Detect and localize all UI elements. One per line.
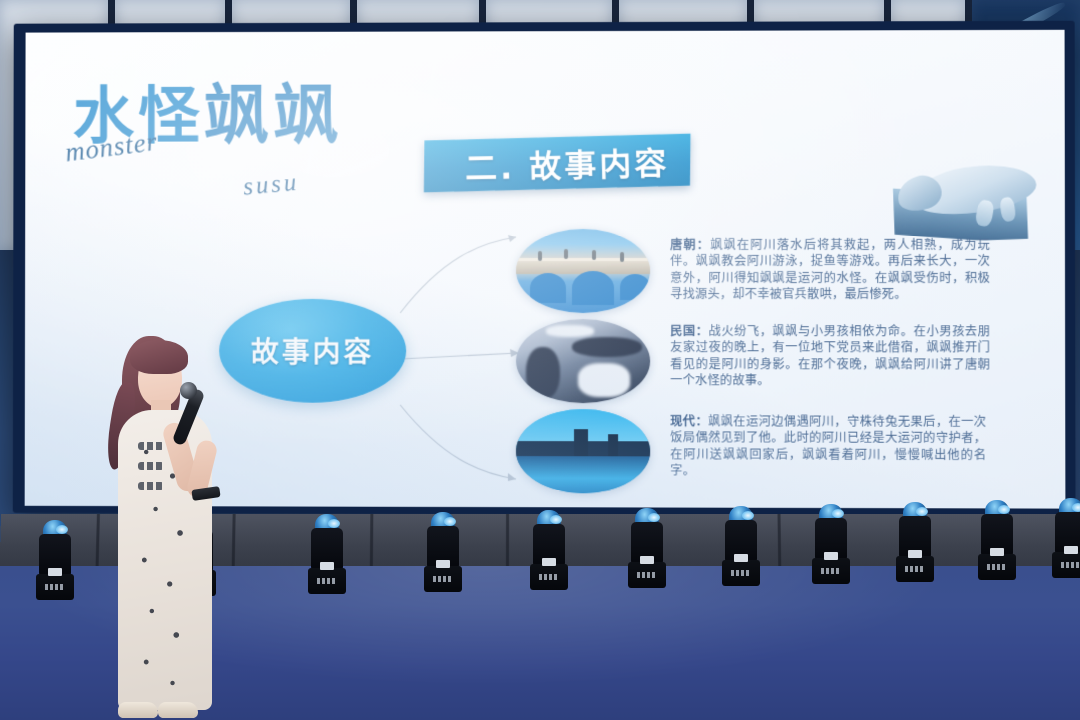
light-glow [328, 519, 340, 528]
highlight-area [546, 325, 594, 337]
light-badge [48, 568, 62, 576]
light-glow [998, 505, 1010, 514]
moving-head-stage-light [812, 502, 850, 586]
light-badge [640, 556, 654, 564]
light-badge [990, 548, 1004, 556]
light-brand-mark [1061, 562, 1080, 568]
moving-head-stage-light [722, 504, 760, 588]
bridge-lamp [564, 249, 568, 259]
logo-char-2: 飒飒 [204, 77, 343, 154]
paragraph-tang-dynasty: 唐朝：飒飒在阿川落水后将其救起，两人相熟，成为玩伴。飒飒教会阿川游泳，捉鱼等游戏… [670, 237, 990, 303]
bridge-arch [620, 274, 650, 300]
light-brand-mark [821, 568, 841, 574]
qipao-frog-closure [138, 442, 164, 450]
moving-head-stage-light [530, 508, 568, 592]
light-brand-mark [905, 566, 925, 572]
light-glow [550, 515, 562, 524]
figure-silhouette [526, 347, 560, 399]
light-brand-mark [433, 576, 453, 582]
paragraph-body: 战火纷飞，飒飒与小男孩相依为命。在小男孩去朋友家过夜的晚上，有一位地下党员来此借… [670, 324, 990, 387]
phone-in-hand [191, 486, 220, 501]
light-brand-mark [45, 584, 65, 590]
shoe-right [158, 702, 198, 718]
light-glow [1072, 503, 1080, 512]
qipao-frog-closure [138, 482, 164, 490]
microphone-head [180, 382, 197, 399]
paragraph-body: 飒飒在运河边偶遇阿川，守株待兔无果后，在一次饭局偶然见到了他。此时的阿川已经是大… [670, 414, 986, 477]
light-badge [908, 550, 922, 558]
light-glow [916, 507, 928, 516]
hair-front [130, 340, 188, 374]
light-brand-mark [637, 572, 657, 578]
moving-head-stage-light [1052, 496, 1080, 580]
bridge-arch [572, 271, 614, 305]
light-glow [648, 513, 660, 522]
light-brand-mark [731, 570, 751, 576]
thumbnail-historic-scene [516, 319, 650, 403]
bridge-lamp [620, 252, 624, 262]
structure-silhouette [572, 337, 642, 357]
night-canal-image [516, 409, 650, 493]
shoe-left [118, 702, 158, 718]
connector-arrows [392, 221, 532, 501]
light-brand-mark [987, 564, 1007, 570]
moving-head-stage-light [424, 510, 462, 594]
section-title-text: 二. 故事内容 [442, 138, 693, 190]
center-node-ellipse: 故事内容 [219, 299, 406, 403]
light-glow [56, 525, 68, 534]
bridge-lamp [592, 250, 596, 260]
moving-head-stage-light [978, 498, 1016, 582]
light-glow [444, 517, 456, 526]
paragraph-era-label: 现代： [670, 414, 708, 428]
moving-head-stage-light [896, 500, 934, 584]
brand-logo: 水怪飒飒 monster susu [65, 54, 403, 194]
paragraph-modern-era: 现代：飒飒在运河边偶遇阿川，守株待兔无果后，在一次饭局偶然见到了他。此时的阿川已… [670, 413, 986, 480]
light-badge [320, 562, 334, 570]
center-node-label: 故事内容 [251, 331, 374, 371]
bridge-lamp [538, 251, 542, 261]
moving-head-stage-light [308, 512, 346, 596]
logo-latin-susu: susu [242, 169, 300, 202]
bridge-image [516, 229, 650, 313]
light-badge [734, 554, 748, 562]
thumbnail-arched-stone-bridge [516, 229, 650, 313]
paragraph-body: 飒飒在阿川落水后将其救起，两人相熟，成为玩伴。飒飒教会阿川游泳，捉鱼等游戏。再后… [670, 238, 990, 302]
qipao-frog-closure [138, 462, 164, 470]
light-badge [1064, 546, 1078, 554]
light-glow [832, 509, 844, 518]
stone-beast-sculpture-photo [878, 145, 1061, 244]
light-badge [542, 558, 556, 566]
paragraph-republic-era: 民国：战火纷飞，飒飒与小男孩相依为命。在小男孩去朋友家过夜的晚上，有一位地下党员… [670, 323, 990, 389]
bridge-arch [530, 273, 566, 303]
thumbnail-night-canal [516, 409, 650, 493]
tower-silhouette [608, 434, 618, 458]
light-brand-mark [317, 578, 337, 584]
tower-silhouette [574, 429, 588, 458]
light-badge [824, 552, 838, 560]
moving-head-stage-light [628, 506, 666, 590]
paragraph-era-label: 民国： [670, 324, 708, 338]
water-reflection [516, 456, 650, 493]
light-brand-mark [539, 574, 559, 580]
moving-head-stage-light [36, 518, 74, 602]
stage-scene: 水怪飒飒 monster susu 二. 故事内容 [0, 0, 1080, 720]
historic-image [516, 319, 650, 403]
paragraph-era-label: 唐朝： [670, 238, 710, 252]
light-badge [436, 560, 450, 568]
presenter [96, 330, 246, 720]
highlight-area [578, 363, 630, 397]
light-glow [742, 511, 754, 520]
